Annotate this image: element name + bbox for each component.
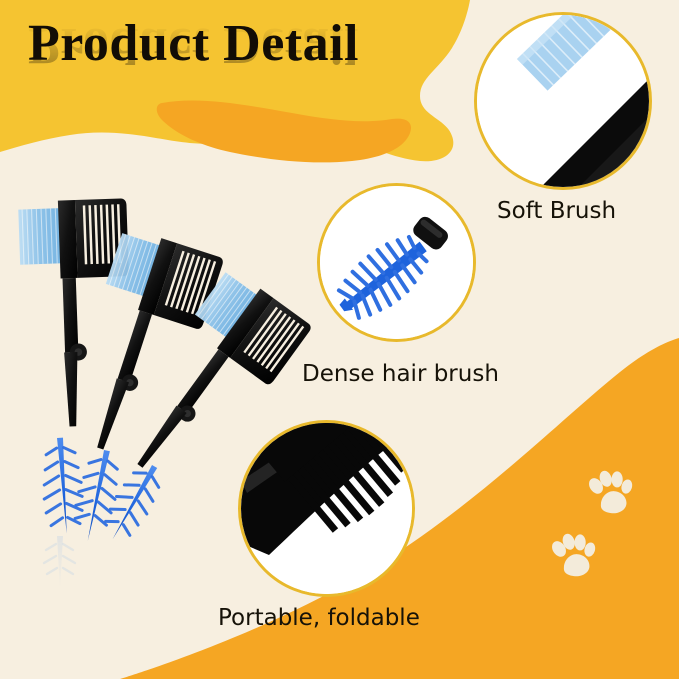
callout-caption-soft-brush: Soft Brush: [497, 198, 616, 224]
product-detail-banner: Product Detail Product Detail: [0, 0, 679, 679]
paw-print-lower-icon: [548, 531, 600, 583]
dense-hair-brush-closeup-image: [320, 186, 476, 342]
comb-closeup-image: [241, 423, 415, 597]
callout-circle-soft-brush: [474, 12, 652, 190]
page-title-reflection: Product Detail: [28, 19, 428, 71]
soft-brush-closeup-image: [477, 15, 652, 190]
page-title-block: Product Detail Product Detail: [28, 18, 428, 128]
callout-caption-dense-hair-brush: Dense hair brush: [302, 361, 499, 387]
callout-circle-dense-hair-brush: [317, 183, 476, 342]
spiral-brush-tips: [40, 437, 169, 590]
callout-caption-portable-foldable: Portable, foldable: [218, 605, 420, 631]
product-reflection: [44, 536, 75, 590]
callout-circle-portable-foldable: [238, 420, 415, 597]
paw-print-upper-icon: [585, 468, 637, 520]
